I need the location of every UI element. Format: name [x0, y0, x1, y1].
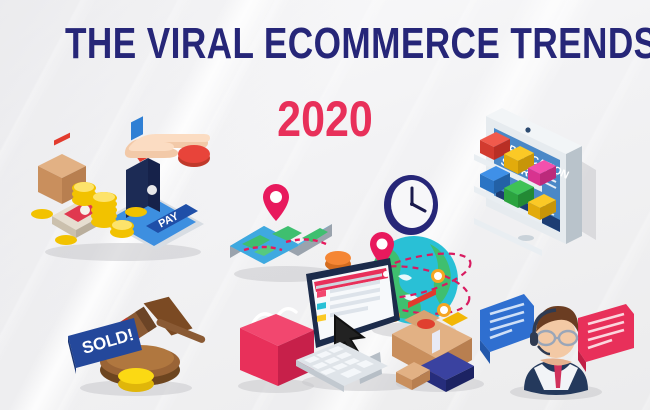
chat-bubble-left — [480, 294, 534, 364]
red-button-icon — [178, 145, 210, 167]
gavel-base-icon — [118, 368, 154, 392]
map-location-pin-icon — [263, 184, 289, 221]
gavel-illustration: SOLD! — [62, 288, 212, 398]
payment-terminal-illustration: PAY — [18, 128, 218, 268]
page-title: THE VIRAL ECOMMERCE TRENDS OF — [65, 20, 585, 68]
chat-bubble-right — [578, 304, 634, 372]
support-agent-illustration — [480, 292, 635, 402]
year-heading: 2020 — [46, 92, 605, 146]
promotional-banner: THE VIRAL ECOMMERCE TRENDS OF 2020 PAY — [0, 0, 650, 410]
